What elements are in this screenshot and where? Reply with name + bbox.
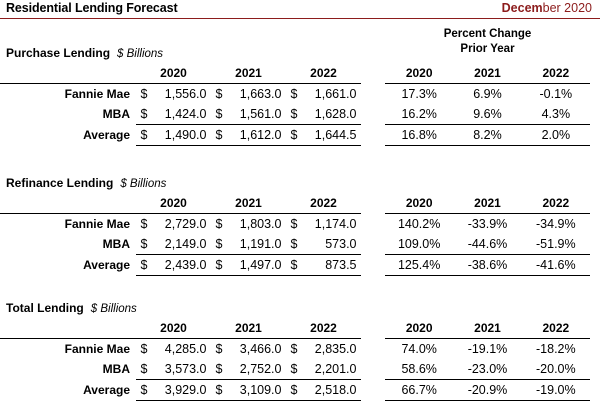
report-date-rest: ber 2020 [543, 1, 592, 15]
money-number: 1,612.0 [216, 125, 282, 145]
cell-2020: $3,573.0 [136, 359, 211, 380]
dollars-table: 202020212022Fannie Mae$4,285.0$3,466.0$2… [0, 319, 361, 401]
cell-pct-2020: 125.4% [385, 255, 453, 276]
table-row: 140.2%-33.9%-34.9% [385, 214, 590, 235]
cell-2020: $4,285.0 [136, 339, 211, 360]
money-value: $2,439.0 [141, 255, 207, 275]
cell-pct-2021: -20.9% [453, 380, 521, 401]
column-header-pct-2021: 2021 [453, 194, 521, 214]
table-row: Fannie Mae$4,285.0$3,466.0$2,835.0 [0, 339, 361, 360]
money-number: 1,628.0 [291, 104, 357, 124]
currency-symbol: $ [291, 234, 298, 254]
section-title-text: Total Lending [6, 301, 84, 315]
corner-cell [0, 319, 136, 339]
title-divider [0, 18, 600, 19]
money-number: 2,518.0 [291, 380, 357, 400]
cell-pct-2022: -19.0% [522, 380, 590, 401]
money-number: 2,752.0 [216, 359, 282, 379]
table-header-row: 202020212022 [0, 64, 361, 84]
cell-2021: $1,663.0 [211, 84, 286, 105]
table-row: 109.0%-44.6%-51.9% [385, 234, 590, 255]
row-label: Fannie Mae [0, 84, 136, 105]
cell-2022: $1,628.0 [286, 104, 361, 125]
money-number: 873.5 [291, 255, 357, 275]
money-number: 4,285.0 [141, 339, 207, 359]
section-title: Purchase Lending$ Billions [6, 46, 163, 62]
cell-pct-2022: -34.9% [522, 214, 590, 235]
column-header-2021: 2021 [211, 194, 286, 214]
cell-2021: $3,466.0 [211, 339, 286, 360]
section-units: $ Billions [110, 48, 163, 60]
money-value: $573.0 [291, 234, 357, 254]
money-value: $1,803.0 [216, 214, 282, 234]
cell-pct-2021: -38.6% [453, 255, 521, 276]
cell-pct-2020: 66.7% [385, 380, 453, 401]
row-label: Average [0, 380, 136, 401]
currency-symbol: $ [216, 234, 223, 254]
money-number: 3,109.0 [216, 380, 282, 400]
cell-2022: $2,518.0 [286, 380, 361, 401]
currency-symbol: $ [141, 359, 148, 379]
column-header-pct-2022: 2022 [522, 319, 590, 339]
cell-pct-2022: -0.1% [522, 84, 590, 105]
currency-symbol: $ [141, 339, 148, 359]
currency-symbol: $ [141, 234, 148, 254]
money-number: 573.0 [291, 234, 357, 254]
row-label: Fannie Mae [0, 339, 136, 360]
cell-2022: $2,835.0 [286, 339, 361, 360]
currency-symbol: $ [216, 359, 223, 379]
money-number: 1,191.0 [216, 234, 282, 254]
currency-symbol: $ [291, 104, 298, 124]
money-number: 2,149.0 [141, 234, 207, 254]
currency-symbol: $ [216, 84, 223, 104]
money-number: 2,439.0 [141, 255, 207, 275]
money-value: $1,556.0 [141, 84, 207, 104]
corner-cell [0, 64, 136, 84]
report-date-month-strong: Decem [502, 1, 543, 15]
currency-symbol: $ [216, 339, 223, 359]
section-title: Total Lending$ Billions [6, 301, 137, 317]
currency-symbol: $ [291, 125, 298, 145]
cell-pct-2022: -51.9% [522, 234, 590, 255]
column-header-pct-2022: 2022 [522, 194, 590, 214]
money-value: $4,285.0 [141, 339, 207, 359]
column-header-2022: 2022 [286, 194, 361, 214]
currency-symbol: $ [291, 214, 298, 234]
currency-symbol: $ [291, 339, 298, 359]
cell-pct-2021: -23.0% [453, 359, 521, 380]
cell-pct-2020: 17.3% [385, 84, 453, 105]
cell-2022: $1,174.0 [286, 214, 361, 235]
money-number: 3,573.0 [141, 359, 207, 379]
cell-2021: $1,561.0 [211, 104, 286, 125]
table-row: Fannie Mae$1,556.0$1,663.0$1,661.0 [0, 84, 361, 105]
table-row: MBA$1,424.0$1,561.0$1,628.0 [0, 104, 361, 125]
cell-pct-2021: -33.9% [453, 214, 521, 235]
money-value: $1,661.0 [291, 84, 357, 104]
cell-pct-2021: 8.2% [453, 125, 521, 146]
column-header-2020: 2020 [136, 319, 211, 339]
cell-2021: $2,752.0 [211, 359, 286, 380]
currency-symbol: $ [141, 214, 148, 234]
column-header-pct-2020: 2020 [385, 319, 453, 339]
percent-change-table: 20202021202217.3%6.9%-0.1%16.2%9.6%4.3%1… [385, 64, 590, 146]
dollars-table: 202020212022Fannie Mae$1,556.0$1,663.0$1… [0, 64, 361, 146]
money-number: 1,174.0 [291, 214, 357, 234]
currency-symbol: $ [141, 84, 148, 104]
table-row: MBA$3,573.0$2,752.0$2,201.0 [0, 359, 361, 380]
row-label: MBA [0, 104, 136, 125]
currency-symbol: $ [141, 125, 148, 145]
currency-symbol: $ [291, 84, 298, 104]
money-value: $1,628.0 [291, 104, 357, 124]
money-value: $2,729.0 [141, 214, 207, 234]
money-number: 2,201.0 [291, 359, 357, 379]
currency-symbol: $ [291, 359, 298, 379]
money-value: $3,929.0 [141, 380, 207, 400]
cell-2022: $873.5 [286, 255, 361, 276]
percent-change-table: 20202021202274.0%-19.1%-18.2%58.6%-23.0%… [385, 319, 590, 401]
cell-pct-2022: 2.0% [522, 125, 590, 146]
money-value: $1,612.0 [216, 125, 282, 145]
table-row: Average$1,490.0$1,612.0$1,644.5 [0, 125, 361, 146]
money-number: 1,490.0 [141, 125, 207, 145]
currency-symbol: $ [141, 255, 148, 275]
money-value: $1,497.0 [216, 255, 282, 275]
money-number: 1,497.0 [216, 255, 282, 275]
money-number: 3,466.0 [216, 339, 282, 359]
table-header-row: 202020212022 [385, 64, 590, 84]
cell-2020: $2,439.0 [136, 255, 211, 276]
currency-symbol: $ [216, 255, 223, 275]
money-value: $3,466.0 [216, 339, 282, 359]
cell-pct-2020: 58.6% [385, 359, 453, 380]
currency-symbol: $ [216, 104, 223, 124]
cell-pct-2021: 9.6% [453, 104, 521, 125]
column-header-2021: 2021 [211, 64, 286, 84]
table-header-row: 202020212022 [0, 319, 361, 339]
cell-2022: $2,201.0 [286, 359, 361, 380]
section-units: $ Billions [113, 178, 166, 190]
money-value: $2,201.0 [291, 359, 357, 379]
table-row: Average$2,439.0$1,497.0$873.5 [0, 255, 361, 276]
cell-2020: $2,149.0 [136, 234, 211, 255]
table-row: 17.3%6.9%-0.1% [385, 84, 590, 105]
table-row: Fannie Mae$2,729.0$1,803.0$1,174.0 [0, 214, 361, 235]
money-value: $1,424.0 [141, 104, 207, 124]
cell-2020: $1,424.0 [136, 104, 211, 125]
table-header-row: 202020212022 [385, 319, 590, 339]
percent-change-table: 202020212022140.2%-33.9%-34.9%109.0%-44.… [385, 194, 590, 276]
cell-2020: $1,490.0 [136, 125, 211, 146]
cell-2020: $1,556.0 [136, 84, 211, 105]
cell-pct-2020: 16.8% [385, 125, 453, 146]
money-value: $1,644.5 [291, 125, 357, 145]
table-row: 125.4%-38.6%-41.6% [385, 255, 590, 276]
column-header-2022: 2022 [286, 319, 361, 339]
cell-2021: $1,497.0 [211, 255, 286, 276]
money-number: 1,663.0 [216, 84, 282, 104]
column-header-2020: 2020 [136, 64, 211, 84]
money-number: 1,661.0 [291, 84, 357, 104]
cell-2021: $3,109.0 [211, 380, 286, 401]
table-row: 58.6%-23.0%-20.0% [385, 359, 590, 380]
currency-symbol: $ [216, 125, 223, 145]
money-number: 1,561.0 [216, 104, 282, 124]
money-value: $1,174.0 [291, 214, 357, 234]
cell-pct-2022: -18.2% [522, 339, 590, 360]
table-row: 16.2%9.6%4.3% [385, 104, 590, 125]
money-number: 2,835.0 [291, 339, 357, 359]
cell-pct-2022: -41.6% [522, 255, 590, 276]
column-header-pct-2020: 2020 [385, 64, 453, 84]
money-number: 1,803.0 [216, 214, 282, 234]
money-value: $2,518.0 [291, 380, 357, 400]
currency-symbol: $ [216, 214, 223, 234]
cell-2022: $1,661.0 [286, 84, 361, 105]
table-row: 74.0%-19.1%-18.2% [385, 339, 590, 360]
cell-2020: $3,929.0 [136, 380, 211, 401]
cell-2021: $1,612.0 [211, 125, 286, 146]
row-label: MBA [0, 359, 136, 380]
money-value: $1,191.0 [216, 234, 282, 254]
cell-pct-2022: 4.3% [522, 104, 590, 125]
cell-pct-2022: -20.0% [522, 359, 590, 380]
cell-pct-2020: 140.2% [385, 214, 453, 235]
money-value: $1,490.0 [141, 125, 207, 145]
table-row: 66.7%-20.9%-19.0% [385, 380, 590, 401]
cell-2020: $2,729.0 [136, 214, 211, 235]
currency-symbol: $ [141, 380, 148, 400]
money-value: $2,149.0 [141, 234, 207, 254]
column-header-2020: 2020 [136, 194, 211, 214]
page-title: Residential Lending Forecast [6, 0, 178, 16]
cell-pct-2021: -19.1% [453, 339, 521, 360]
row-label: MBA [0, 234, 136, 255]
percent-change-heading-line1: Percent Change [385, 27, 590, 41]
money-number: 3,929.0 [141, 380, 207, 400]
table-row: MBA$2,149.0$1,191.0$573.0 [0, 234, 361, 255]
money-value: $1,561.0 [216, 104, 282, 124]
section-units: $ Billions [84, 303, 137, 315]
dollars-table: 202020212022Fannie Mae$2,729.0$1,803.0$1… [0, 194, 361, 276]
money-number: 1,424.0 [141, 104, 207, 124]
currency-symbol: $ [216, 380, 223, 400]
row-label: Average [0, 255, 136, 276]
cell-pct-2020: 74.0% [385, 339, 453, 360]
money-number: 2,729.0 [141, 214, 207, 234]
table-row: Average$3,929.0$3,109.0$2,518.0 [0, 380, 361, 401]
cell-pct-2021: -44.6% [453, 234, 521, 255]
table-header-row: 202020212022 [0, 194, 361, 214]
money-value: $873.5 [291, 255, 357, 275]
table-header-row: 202020212022 [385, 194, 590, 214]
row-label: Average [0, 125, 136, 146]
currency-symbol: $ [291, 255, 298, 275]
cell-pct-2020: 109.0% [385, 234, 453, 255]
column-header-2022: 2022 [286, 64, 361, 84]
section-title-text: Purchase Lending [6, 46, 110, 60]
money-value: $2,835.0 [291, 339, 357, 359]
percent-change-heading-line2: Prior Year [385, 42, 590, 56]
column-header-pct-2020: 2020 [385, 194, 453, 214]
money-number: 1,556.0 [141, 84, 207, 104]
column-header-pct-2021: 2021 [453, 319, 521, 339]
money-value: $3,573.0 [141, 359, 207, 379]
table-row: 16.8%8.2%2.0% [385, 125, 590, 146]
money-value: $2,752.0 [216, 359, 282, 379]
currency-symbol: $ [291, 380, 298, 400]
money-value: $3,109.0 [216, 380, 282, 400]
cell-2022: $573.0 [286, 234, 361, 255]
report-date: December 2020 [502, 0, 592, 16]
column-header-pct-2022: 2022 [522, 64, 590, 84]
cell-2021: $1,191.0 [211, 234, 286, 255]
column-header-2021: 2021 [211, 319, 286, 339]
currency-symbol: $ [141, 104, 148, 124]
cell-2021: $1,803.0 [211, 214, 286, 235]
row-label: Fannie Mae [0, 214, 136, 235]
section-title-text: Refinance Lending [6, 176, 113, 190]
section-title: Refinance Lending$ Billions [6, 176, 166, 192]
money-value: $1,663.0 [216, 84, 282, 104]
corner-cell [0, 194, 136, 214]
money-number: 1,644.5 [291, 125, 357, 145]
document-header: Residential Lending Forecast December 20… [0, 0, 600, 21]
cell-2022: $1,644.5 [286, 125, 361, 146]
cell-pct-2021: 6.9% [453, 84, 521, 105]
column-header-pct-2021: 2021 [453, 64, 521, 84]
cell-pct-2020: 16.2% [385, 104, 453, 125]
